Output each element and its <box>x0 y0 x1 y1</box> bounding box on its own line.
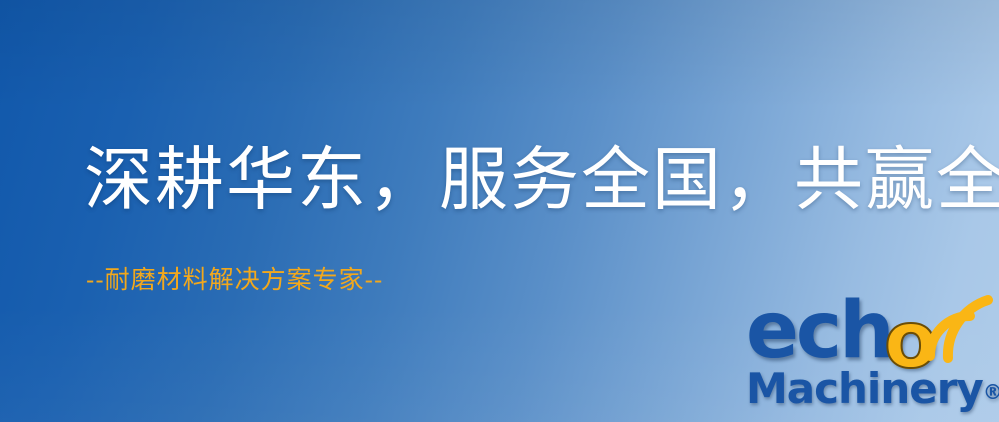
banner-subtitle: --耐磨材料解决方案专家-- <box>86 268 383 293</box>
company-logo[interactable]: ech o Machinery® <box>744 296 996 422</box>
logo-tagline-text: Machinery <box>746 364 983 413</box>
hero-banner: 深耕华东，服务全国，共赢全球 --耐磨材料解决方案专家-- ech o Mach… <box>0 0 999 422</box>
logo-wordmark: ech o <box>744 296 996 374</box>
banner-headline: 深耕华东，服务全国，共赢全球 <box>84 146 999 215</box>
echo-wave-icon <box>922 294 996 364</box>
logo-text-ech: ech <box>746 292 892 370</box>
logo-tagline: Machinery® <box>746 368 999 410</box>
registered-trademark-icon: ® <box>983 380 999 404</box>
